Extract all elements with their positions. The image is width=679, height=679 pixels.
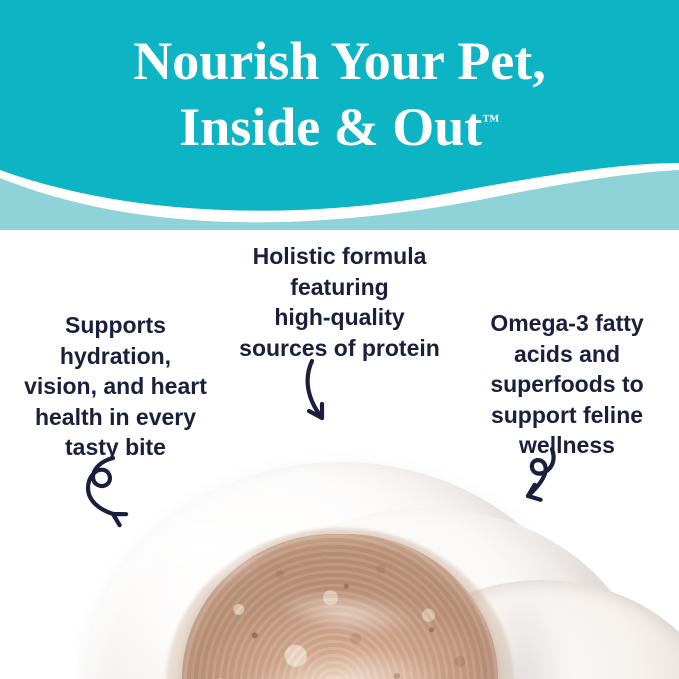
curly-arrow-down-right-icon [82,455,152,535]
trademark-symbol: ™ [482,111,500,130]
callout-text-left: Supports hydration, vision, and heart he… [8,310,223,463]
header-banner: Nourish Your Pet, Inside & Out™ [0,0,679,230]
page-title: Nourish Your Pet, Inside & Out™ [0,28,679,161]
title-line-2: Inside & Out [179,97,482,157]
arrow-head-right [528,484,543,500]
title-line-1: Nourish Your Pet, [0,28,679,94]
callout-text-right: Omega-3 fatty acids and superfoods to su… [462,308,672,461]
curved-arrow-down-icon [300,358,350,430]
promotional-image: Nourish Your Pet, Inside & Out™ Supports… [0,0,679,679]
callout-text-middle: Holistic formula featuring high-quality … [232,241,447,363]
title-line-2-wrap: Inside & Out™ [0,94,679,160]
curly-arrow-down-left-icon [500,446,570,526]
arrow-head-left [113,512,128,526]
